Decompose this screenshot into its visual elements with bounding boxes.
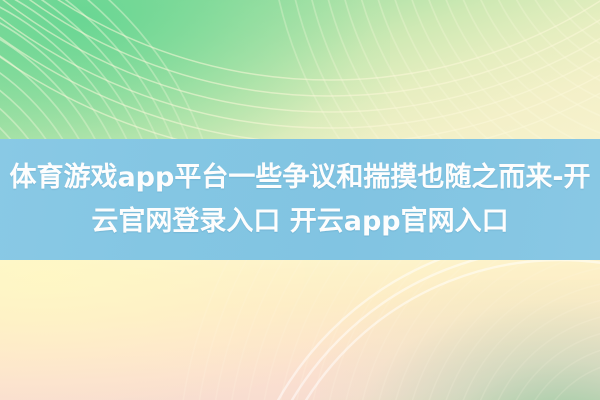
headline-title: 体育游戏app平台一些争议和揣摸也随之而来-开云官网登录入口 开云app官网入口	[6, 156, 594, 244]
headline-banner: 体育游戏app平台一些争议和揣摸也随之而来-开云官网登录入口 开云app官网入口	[0, 139, 600, 260]
bottom-green-bloom	[320, 280, 600, 400]
banner-image: 体育游戏app平台一些争议和揣摸也随之而来-开云官网登录入口 开云app官网入口	[0, 0, 600, 400]
